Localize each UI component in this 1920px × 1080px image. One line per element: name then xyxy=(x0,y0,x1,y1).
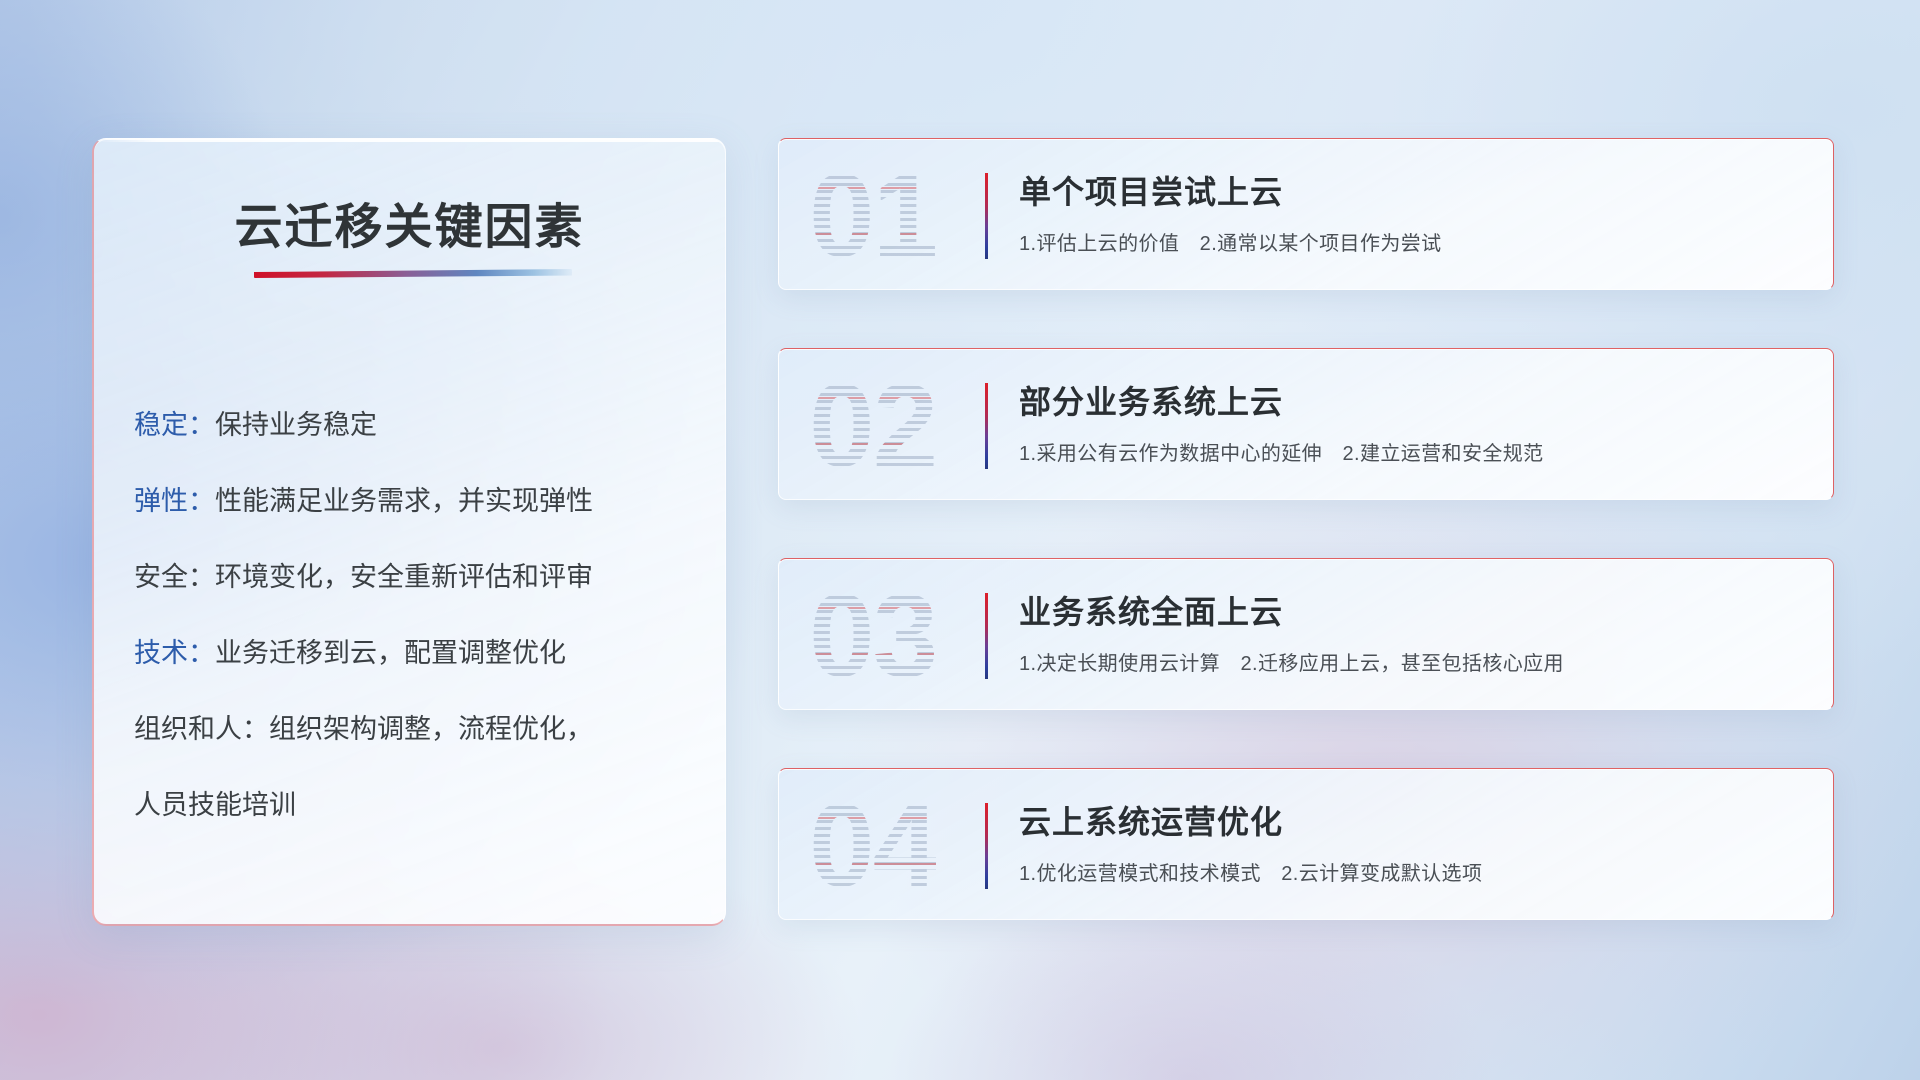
factor-row: 稳定：保持业务稳定 xyxy=(134,387,699,463)
stage-number: 03 xyxy=(809,561,936,710)
factor-value: 性能满足业务需求，并实现弹性 xyxy=(215,486,593,516)
stage-description: 1.决定长期使用云计算 2.迁移应用上云，甚至包括核心应用 xyxy=(1019,647,1564,676)
stage-number: 02 xyxy=(809,351,936,500)
page-title: 云迁移关键因素 xyxy=(94,187,725,257)
factor-value: 环境变化，安全重新评估和评审 xyxy=(215,562,593,592)
factor-row: 弹性：性能满足业务需求，并实现弹性 xyxy=(134,463,699,539)
card-accent-bar xyxy=(985,383,988,469)
stage-card[interactable]: 01 01 单个项目尝试上云 1.评估上云的价值 2.通常以某个项目作为尝试 xyxy=(778,138,1834,290)
stage-title: 业务系统全面上云 xyxy=(1019,587,1283,633)
factor-row: 人员技能培训 xyxy=(134,767,699,843)
factor-row: 安全：环境变化，安全重新评估和评审 xyxy=(134,539,699,615)
stage-description: 1.优化运营模式和技术模式 2.云计算变成默认选项 xyxy=(1019,857,1482,886)
card-accent-bar xyxy=(985,803,988,889)
title-underline-accent xyxy=(254,269,572,278)
factor-value: 业务迁移到云，配置调整优化 xyxy=(215,638,566,668)
stage-title: 单个项目尝试上云 xyxy=(1019,167,1283,213)
stage-description: 1.评估上云的价值 2.通常以某个项目作为尝试 xyxy=(1019,227,1442,256)
stage-number: 04 xyxy=(809,771,936,920)
factor-value: 组织架构调整，流程优化， xyxy=(269,714,593,744)
card-accent-bar xyxy=(985,173,988,259)
key-factors-panel: 云迁移关键因素 稳定：保持业务稳定 弹性：性能满足业务需求，并实现弹性 安全：环… xyxy=(92,138,726,926)
stage-card[interactable]: 04 04 云上系统运营优化 1.优化运营模式和技术模式 2.云计算变成默认选项 xyxy=(778,768,1834,920)
factor-key: 安全： xyxy=(134,562,215,592)
factor-row: 技术：业务迁移到云，配置调整优化 xyxy=(134,615,699,691)
stage-card[interactable]: 03 03 业务系统全面上云 1.决定长期使用云计算 2.迁移应用上云，甚至包括… xyxy=(778,558,1834,710)
factor-key: 弹性： xyxy=(134,486,215,516)
factor-list: 稳定：保持业务稳定 弹性：性能满足业务需求，并实现弹性 安全：环境变化，安全重新… xyxy=(134,387,699,843)
stage-description: 1.采用公有云作为数据中心的延伸 2.建立运营和安全规范 xyxy=(1019,437,1544,466)
stage-title: 部分业务系统上云 xyxy=(1019,377,1283,423)
factor-row: 组织和人：组织架构调整，流程优化， xyxy=(134,691,699,767)
card-accent-bar xyxy=(985,593,988,679)
stage-card-list: 01 01 单个项目尝试上云 1.评估上云的价值 2.通常以某个项目作为尝试 0… xyxy=(778,138,1834,920)
stage-title: 云上系统运营优化 xyxy=(1019,797,1283,843)
factor-value: 保持业务稳定 xyxy=(215,410,377,440)
factor-key: 组织和人： xyxy=(134,714,269,744)
stage-number: 01 xyxy=(809,141,936,290)
factor-key: 稳定： xyxy=(134,410,215,440)
factor-key: 技术： xyxy=(134,638,215,668)
factor-value: 人员技能培训 xyxy=(134,790,296,820)
stage-card[interactable]: 02 02 部分业务系统上云 1.采用公有云作为数据中心的延伸 2.建立运营和安… xyxy=(778,348,1834,500)
